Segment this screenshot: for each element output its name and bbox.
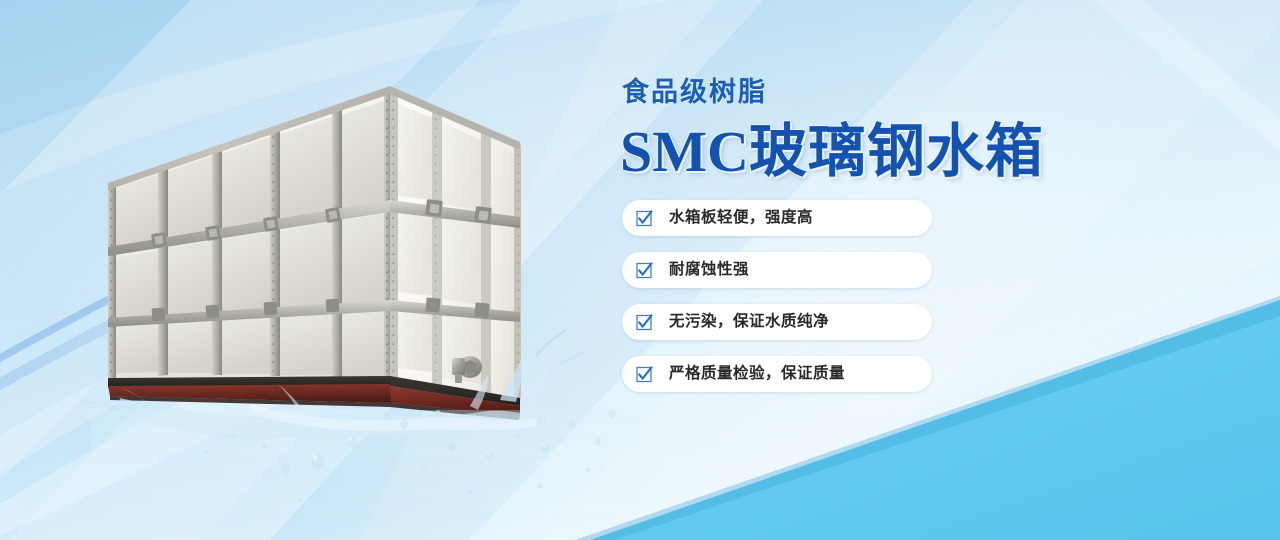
banner-headline: SMC玻璃钢水箱 <box>620 104 1044 188</box>
headline-latin: SMC <box>620 119 749 184</box>
feature-item-4[interactable]: 严格质量检验，保证质量 <box>622 356 932 392</box>
checkbox-checked-icon <box>636 314 653 331</box>
checkbox-checked-icon <box>636 210 653 227</box>
banner-content: 食品级树脂 SMC玻璃钢水箱 水箱板轻便，强度高 <box>620 0 1280 540</box>
feature-item-1[interactable]: 水箱板轻便，强度高 <box>622 200 932 236</box>
drain-valve-icon <box>452 356 482 383</box>
feature-label: 水箱板轻便，强度高 <box>669 210 813 226</box>
water-splash-decoration <box>80 330 640 520</box>
checkbox-checked-icon <box>636 366 653 383</box>
feature-list: 水箱板轻便，强度高 耐腐蚀性强 无污染，保证 <box>622 200 932 392</box>
feature-label: 无污染，保证水质纯净 <box>669 314 829 330</box>
product-image-smc-water-tank <box>0 0 640 540</box>
feature-item-3[interactable]: 无污染，保证水质纯净 <box>622 304 932 340</box>
promo-banner: 食品级树脂 SMC玻璃钢水箱 水箱板轻便，强度高 <box>0 0 1280 540</box>
headline-cjk: 玻璃钢水箱 <box>749 119 1044 184</box>
feature-item-2[interactable]: 耐腐蚀性强 <box>622 252 932 288</box>
feature-label: 耐腐蚀性强 <box>669 262 749 278</box>
checkbox-checked-icon <box>636 262 653 279</box>
feature-label: 严格质量检验，保证质量 <box>669 366 845 382</box>
